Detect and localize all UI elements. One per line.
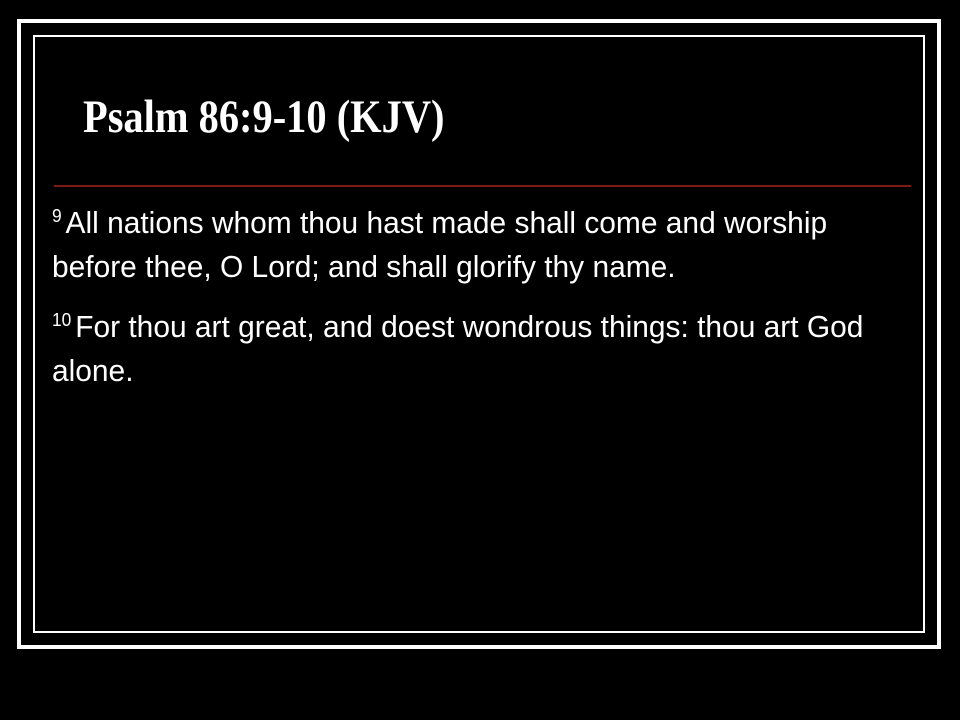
slide-inner-frame: Psalm 86:9-10 (KJV) 9All nations whom th…: [33, 35, 925, 633]
title-divider-rule: [54, 185, 911, 187]
verse-text-10: For thou art great, and doest wondrous t…: [52, 309, 863, 388]
verse-number-10: 10: [52, 310, 75, 330]
verse-text-9: All nations whom thou hast made shall co…: [52, 205, 827, 284]
verse-body-block: 9All nations whom thou hast made shall c…: [52, 201, 914, 401]
slide-outer-frame: Psalm 86:9-10 (KJV) 9All nations whom th…: [17, 19, 941, 649]
slide-content: Psalm 86:9-10 (KJV) 9All nations whom th…: [35, 37, 923, 631]
verse-number-9: 9: [52, 206, 66, 226]
slide-stage: Psalm 86:9-10 (KJV) 9All nations whom th…: [0, 0, 960, 720]
page-title: Psalm 86:9-10 (KJV): [83, 94, 444, 141]
verse-paragraph-10: 10For thou art great, and doest wondrous…: [52, 305, 884, 393]
verse-paragraph-9: 9All nations whom thou hast made shall c…: [52, 201, 884, 289]
